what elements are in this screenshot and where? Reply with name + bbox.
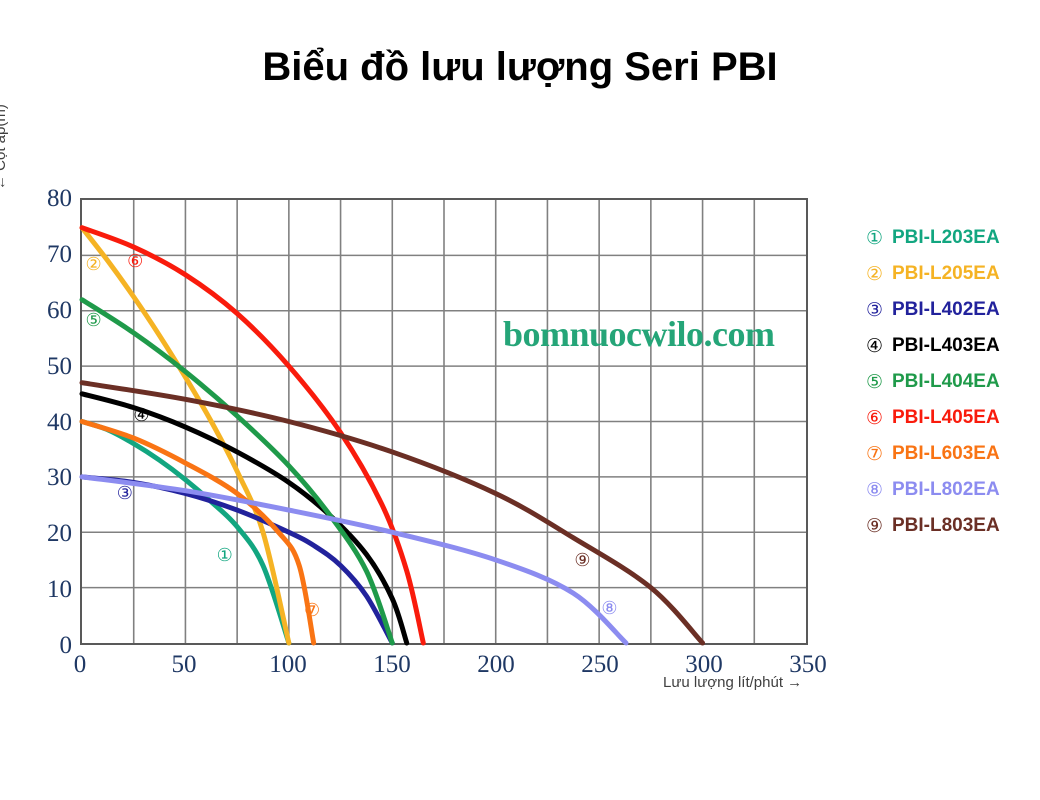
y-tick-30: 30 [20, 465, 72, 490]
watermark-text: bomnuocwilo.com [503, 313, 775, 355]
legend-marker-icon: ⑦ [866, 445, 892, 464]
x-tick-250: 250 [565, 652, 635, 677]
x-tick-50: 50 [149, 652, 219, 677]
legend-item-pbi-l403ea[interactable]: ④PBI-L403EA [866, 328, 1036, 364]
legend-item-pbi-l402ea[interactable]: ③PBI-L402EA [866, 292, 1036, 328]
x-tick-0: 0 [45, 652, 115, 677]
x-tick-150: 150 [357, 652, 427, 677]
legend-item-label: PBI-L404EA [892, 371, 1000, 393]
legend-item-pbi-l203ea[interactable]: ①PBI-L203EA [866, 220, 1036, 256]
legend-item-pbi-l404ea[interactable]: ⑤PBI-L404EA [866, 364, 1036, 400]
legend-marker-icon: ① [866, 229, 892, 248]
legend-item-label: PBI-L603EA [892, 443, 1000, 465]
y-axis-title: ← Cột áp(m) [0, 104, 9, 190]
legend-marker-icon: ④ [866, 337, 892, 356]
x-tick-100: 100 [253, 652, 323, 677]
y-tick-20: 20 [20, 521, 72, 546]
legend-item-label: PBI-L803EA [892, 515, 1000, 537]
y-tick-40: 40 [20, 410, 72, 435]
legend-marker-icon: ⑨ [866, 517, 892, 536]
y-tick-60: 60 [20, 298, 72, 323]
legend-marker-icon: ⑧ [866, 481, 892, 500]
legend-item-label: PBI-L405EA [892, 407, 1000, 429]
x-axis-title: Lưu lượng lít/phút → [663, 674, 802, 691]
y-tick-10: 10 [20, 577, 72, 602]
legend-item-label: PBI-L205EA [892, 263, 1000, 285]
legend-item-label: PBI-L203EA [892, 227, 1000, 249]
legend-item-label: PBI-L402EA [892, 299, 1000, 321]
legend-item-pbi-l205ea[interactable]: ②PBI-L205EA [866, 256, 1036, 292]
legend-marker-icon: ③ [866, 301, 892, 320]
legend-marker-icon: ② [866, 265, 892, 284]
legend-marker-icon: ⑤ [866, 373, 892, 392]
chart-legend: ①PBI-L203EA②PBI-L205EA③PBI-L402EA④PBI-L4… [866, 220, 1036, 544]
legend-item-label: PBI-L802EA [892, 479, 1000, 501]
legend-item-label: PBI-L403EA [892, 335, 1000, 357]
x-tick-200: 200 [461, 652, 531, 677]
y-tick-80: 80 [20, 186, 72, 211]
legend-item-pbi-l603ea[interactable]: ⑦PBI-L603EA [866, 436, 1036, 472]
legend-marker-icon: ⑥ [866, 409, 892, 428]
legend-item-pbi-l803ea[interactable]: ⑨PBI-L803EA [866, 508, 1036, 544]
y-tick-70: 70 [20, 242, 72, 267]
legend-item-pbi-l802ea[interactable]: ⑧PBI-L802EA [866, 472, 1036, 508]
legend-item-pbi-l405ea[interactable]: ⑥PBI-L405EA [866, 400, 1036, 436]
y-tick-50: 50 [20, 354, 72, 379]
